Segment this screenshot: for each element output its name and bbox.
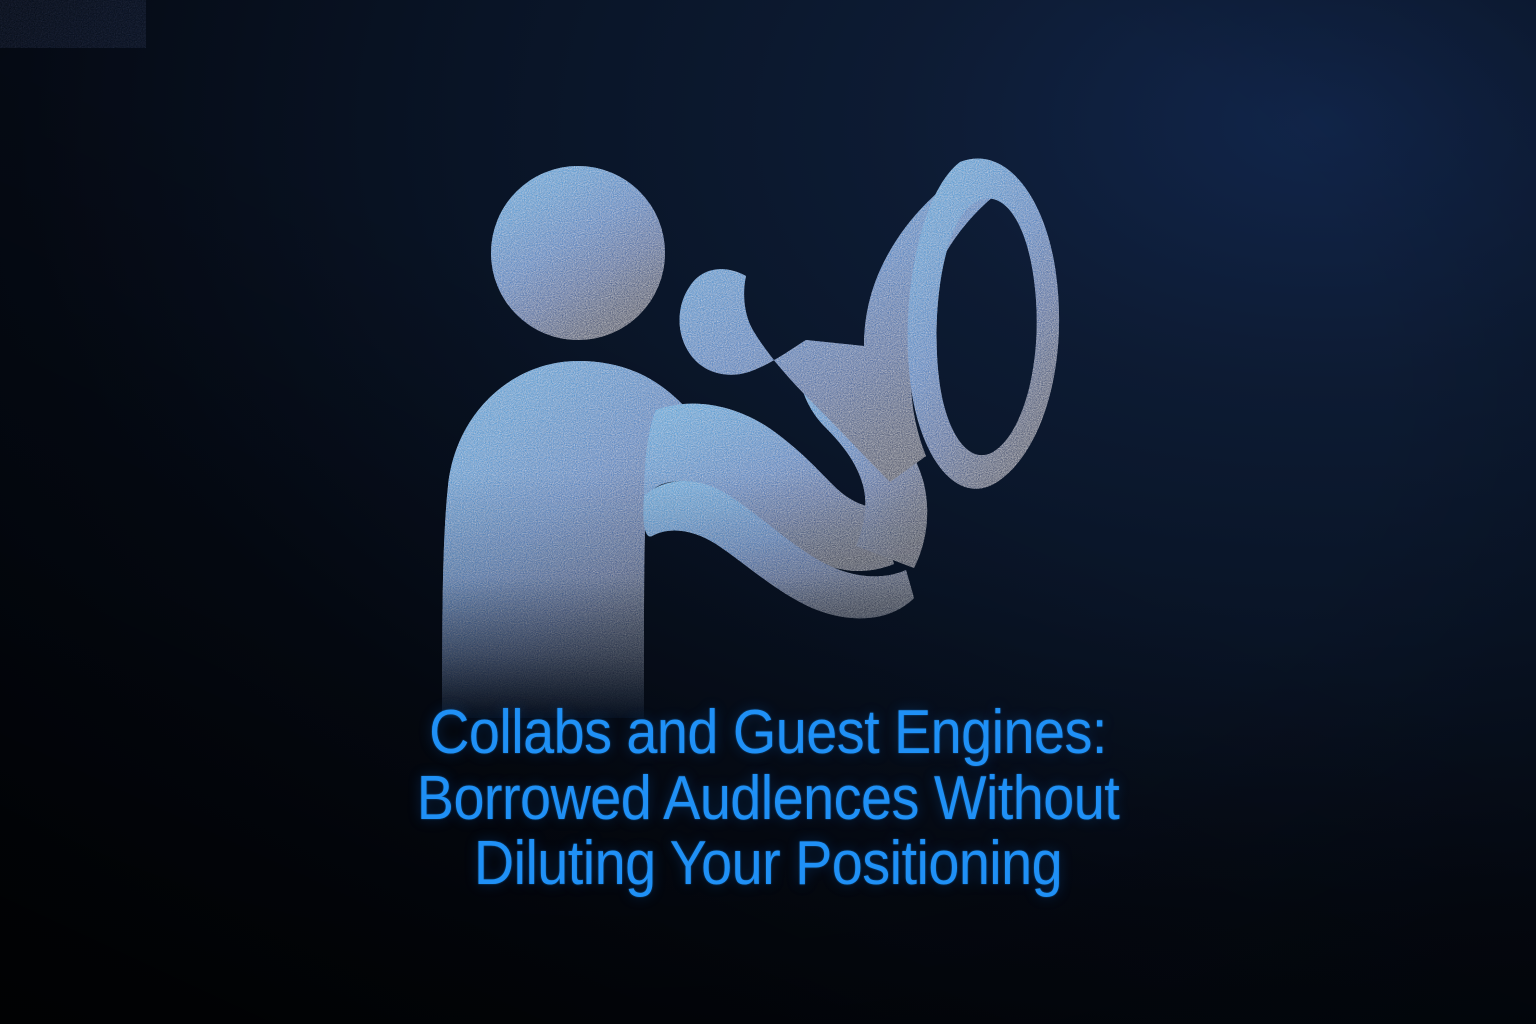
title-line-1: Collabs and Guest Engines: xyxy=(77,700,1459,766)
title-line-3: Diluting Your Positioning xyxy=(77,831,1459,897)
title-line-2: Borrowed Audlences Without xyxy=(77,766,1459,832)
poster-canvas: Collabs and Guest Engines: Borrowed Audl… xyxy=(0,0,1536,1024)
poster-title: Collabs and Guest Engines: Borrowed Audl… xyxy=(0,700,1536,897)
